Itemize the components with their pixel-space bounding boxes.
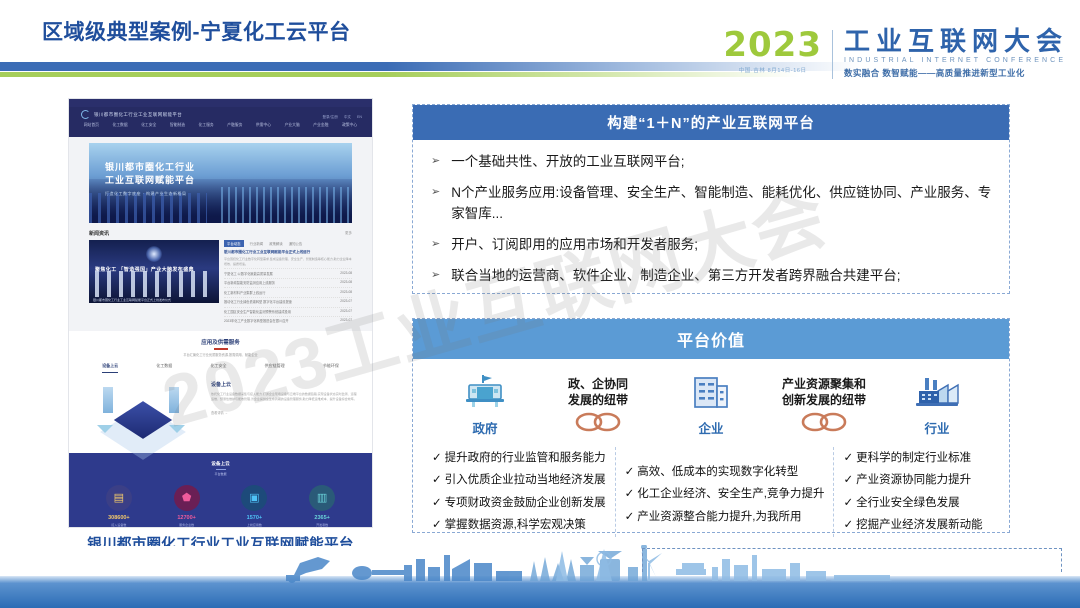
stats-rule	[216, 469, 226, 470]
hero-line1: 银川都市圈化工行业	[105, 161, 195, 174]
check-icon: ✓	[843, 497, 853, 509]
data-icon: ▥	[309, 485, 335, 511]
news-lead-body: 平台围绕化工行业数字化转型需求,集成设备管理、安全生产、智能制造等核心能力,助力…	[224, 257, 352, 266]
stat-item: ⬟ 12700+ 服务企业数	[174, 485, 200, 527]
news-more-link[interactable]: 更多	[345, 231, 352, 236]
news-item-title: 2023年化工产业数字化转型推进会在银川召开	[224, 318, 288, 323]
check-icon: ✓	[625, 488, 635, 500]
value-node-government: 政府	[439, 373, 531, 437]
stat-item: ▣ 1570+ 上线应用数	[241, 485, 267, 527]
stat-value: 308600+	[106, 515, 132, 521]
news-item[interactable]: 2023年化工产业数字化转型推进会在银川召开 2023-07	[224, 316, 352, 323]
mockup-brand: 银川都市圈化工行业工业互联网赋能平台	[94, 112, 182, 118]
benefit-text: 全行业安全绿色发展	[856, 497, 960, 509]
news-item-date: 2023-07	[340, 299, 352, 304]
panel-top-bullets: ➢ 一个基础共性、开放的工业互联网平台; ➢ N个产业服务应用:设备管理、安全生…	[413, 140, 1009, 297]
stat-value: 1570+	[241, 515, 267, 521]
benefit-item: ✓产业资源协同能力提升	[843, 469, 990, 491]
news-item-title: 平台新增智能安防监测应用上线服务	[224, 280, 275, 285]
bullet-text: N个产业服务应用:设备管理、安全生产、智能制造、能耗优化、供应链协同、产业服务、…	[451, 183, 993, 225]
feature-text: 设备上云 依托化工行业设备数据采集与接入能力,打通企业现场设备与云端平台的数据链…	[211, 381, 358, 443]
mockup-news-block: 聚焦化工 「智造强国」产业大脑发布盛典 银川都市圈化工行业工业互联网赋能平台正式…	[89, 240, 352, 323]
benefit-item: ✓全行业安全绿色发展	[843, 492, 990, 514]
hero-line2: 工业互联网赋能平台	[105, 174, 195, 187]
logo-year-block: 2023 中国·吉林 8月14日-16日	[723, 28, 832, 74]
benefit-item: ✓更科学的制定行业标准	[843, 447, 990, 469]
check-icon: ✓	[625, 511, 635, 523]
arrow-bullet-icon: ➢	[431, 185, 440, 198]
benefit-item: ✓引入优质企业拉动当地经济发展	[432, 469, 606, 491]
value-column-government: ✓提升政府的行业监管和服务能力 ✓引入优质企业拉动当地经济发展 ✓专项财政资金鼓…	[423, 447, 615, 537]
arrow-bullet-icon: ➢	[431, 237, 440, 250]
news-photo-caption: 银川都市圈化工行业工业互联网赋能平台正式上线发布仪式	[93, 298, 171, 302]
check-icon: ✓	[432, 474, 442, 486]
stat-item: ▤ 308600+ 接入设备数	[106, 485, 132, 527]
mockup-menu-item[interactable]: 化工安全	[141, 123, 156, 128]
mockup-menu-item[interactable]: 产业大脑	[285, 123, 300, 128]
benefit-text: 挖掘产业经济发展新动能	[856, 519, 983, 531]
check-icon: ✓	[843, 452, 853, 464]
service-tab[interactable]: 化工数据	[156, 363, 172, 373]
slide-root: 区域级典型案例-宁夏化工云平台 2023 中国·吉林 8月14日-16日 工业互…	[0, 0, 1080, 608]
stats-title: 设备上云	[69, 461, 372, 467]
government-icon	[463, 373, 507, 411]
benefit-text: 产业资源整合能力提升,为我所用	[637, 511, 801, 523]
footer-dashed-frame	[642, 548, 1062, 572]
page-title: 区域级典型案例-宁夏化工云平台	[42, 16, 351, 46]
monitor-icon: ▣	[241, 485, 267, 511]
benefit-text: 掌握数据资源,科学宏观决策	[445, 519, 586, 531]
hero-line3: 打造化工数字底座 · 构建产业生态新格局	[105, 191, 195, 197]
service-band-title: 应用及供需服务	[69, 338, 372, 346]
mockup-menu-item[interactable]: 政策中心	[342, 123, 357, 128]
value-benefit-lists: ✓提升政府的行业监管和服务能力 ✓引入优质企业拉动当地经济发展 ✓专项财政资金鼓…	[413, 437, 1009, 537]
logo-year-sub: 中国·吉林 8月14日-16日	[723, 66, 822, 74]
platform-screenshot-mockup: 银川都市圈化工行业工业互联网赋能平台 登录/注册 中文 EN 网站首页 化工数据…	[68, 98, 373, 528]
benefit-text: 专项财政资金鼓励企业创新发展	[445, 497, 606, 509]
link-text-line2: 发展的纽带	[539, 392, 657, 408]
news-tab[interactable]: 平台动态	[224, 240, 244, 247]
service-tab[interactable]: 设备上云	[102, 363, 118, 373]
mockup-menu-item[interactable]: 化工数据	[112, 123, 127, 128]
news-lead-title[interactable]: 银川都市圈化工行业工业互联网赋能平台正式上线运行	[224, 250, 352, 255]
mockup-menu-item[interactable]: 产融服务	[227, 123, 242, 128]
news-tabs[interactable]: 平台动态 行业新闻 政策解读 通知公告	[224, 240, 352, 247]
enterprise-icon	[689, 373, 733, 411]
mockup-service-band: 应用及供需服务 平台汇聚化工行业优质服务资源,按需调用、赋能企业 设备上云 化工…	[69, 331, 372, 373]
stat-label: 上线应用数	[241, 523, 267, 527]
bullet-item: ➢ 联合当地的运营商、软件企业、制造企业、第三方开发者跨界融合共建平台;	[431, 266, 993, 287]
server-icon: ▤	[106, 485, 132, 511]
feature-illustration	[83, 381, 203, 443]
service-tab[interactable]: 化工安全	[210, 363, 226, 373]
check-icon: ✓	[625, 466, 635, 478]
benefit-item: ✓产业资源整合能力提升,为我所用	[625, 506, 825, 528]
mockup-stats-band: 设备上云 平台数据 ▤ 308600+ 接入设备数 ⬟ 12700+ 服务企业数…	[69, 453, 372, 528]
logo-title-cn: 工业互联网大会	[844, 28, 1068, 55]
panel-platform-architecture: 构建“1＋N”的产业互联网平台 ➢ 一个基础共性、开放的工业互联网平台; ➢ N…	[412, 104, 1010, 294]
news-item-date: 2023-08	[340, 290, 352, 295]
value-node-label: 政府	[439, 418, 531, 437]
news-list: 平台动态 行业新闻 政策解读 通知公告 银川都市圈化工行业工业互联网赋能平台正式…	[224, 240, 352, 323]
news-item[interactable]: 宁夏化工:以数字化赋能高质量发展 2023-08	[224, 268, 352, 275]
header-divider-green	[0, 72, 800, 77]
news-item-title: 化工新材料产业集群上线运行	[224, 290, 265, 295]
benefit-item: ✓提升政府的行业监管和服务能力	[432, 447, 606, 469]
feature-more-link[interactable]: 查看详情 →	[211, 410, 358, 415]
mockup-nav: 银川都市圈化工行业工业互联网赋能平台 登录/注册 中文 EN 网站首页 化工数据…	[69, 107, 372, 137]
news-item-title: 推动化工行业绿色低碳转型 数字化平台建设提速	[224, 299, 292, 304]
stat-value: 12700+	[174, 515, 200, 521]
mockup-nav-en[interactable]: EN	[357, 115, 362, 120]
news-item-date: 2023-08	[340, 271, 352, 276]
mockup-nav-login[interactable]: 登录/注册	[322, 115, 337, 120]
check-icon: ✓	[432, 452, 442, 464]
check-icon: ✓	[843, 519, 853, 531]
mockup-topbar	[69, 99, 372, 107]
panel-top-title: 构建“1＋N”的产业互联网平台	[413, 105, 1009, 140]
news-section-title: 新闻资讯	[89, 230, 109, 237]
feature-title: 设备上云	[211, 381, 358, 388]
benefit-text: 产业资源协同能力提升	[856, 474, 971, 486]
benefit-text: 化工企业经济、安全生产,竞争力提升	[637, 488, 824, 500]
benefit-item: ✓化工企业经济、安全生产,竞争力提升	[625, 483, 825, 505]
service-band-tabs[interactable]: 设备上云 化工数据 化工安全 供应链管理 节能环保	[69, 363, 372, 373]
service-band-subtitle: 平台汇聚化工行业优质服务资源,按需调用、赋能企业	[69, 352, 372, 357]
logo-year: 2023	[723, 28, 822, 62]
news-item[interactable]: 化工新材料产业集群上线运行 2023-08	[224, 287, 352, 294]
service-tab[interactable]: 节能环保	[323, 363, 339, 373]
stats-subtitle: 平台数据	[69, 472, 372, 476]
photo-spotlight	[146, 246, 162, 262]
benefit-text: 引入优质企业拉动当地经济发展	[445, 474, 606, 486]
logo-title-en: INDUSTRIAL INTERNET CONFERENCE	[844, 57, 1068, 64]
benefit-item: ✓挖掘产业经济发展新动能	[843, 514, 990, 536]
benefit-text: 提升政府的行业监管和服务能力	[445, 452, 606, 464]
benefit-text: 高效、低成本的实现数字化转型	[637, 466, 798, 478]
bullet-text: 联合当地的运营商、软件企业、制造企业、第三方开发者跨界融合共建平台;	[451, 266, 900, 287]
photo-people	[95, 271, 213, 297]
news-item[interactable]: 化工园区安全生产智能化监测预警系统建成投用 2023-07	[224, 307, 352, 314]
news-item-title: 化工园区安全生产智能化监测预警系统建成投用	[224, 309, 291, 314]
mockup-menu-item[interactable]: 智能制造	[170, 123, 185, 128]
benefit-item: ✓高效、低成本的实现数字化转型	[625, 461, 825, 483]
value-node-enterprise: 企业	[665, 373, 757, 437]
bullet-item: ➢ N个产业服务应用:设备管理、安全生产、智能制造、能耗优化、供应链协同、产业服…	[431, 183, 993, 225]
news-item-date: 2023-08	[340, 280, 352, 285]
bullet-item: ➢ 开户、订阅即用的应用市场和开发者服务;	[431, 235, 993, 256]
value-column-industry: ✓更科学的制定行业标准 ✓产业资源协同能力提升 ✓全行业安全绿色发展 ✓挖掘产业…	[833, 447, 999, 537]
bullet-text: 一个基础共性、开放的工业互联网平台;	[451, 152, 684, 173]
chain-link-icon	[539, 412, 657, 437]
news-item[interactable]: 平台新增智能安防监测应用上线服务 2023-08	[224, 278, 352, 285]
news-item[interactable]: 推动化工行业绿色低碳转型 数字化平台建设提速 2023-07	[224, 297, 352, 304]
stat-label: 开发者数	[309, 523, 335, 527]
mockup-nav-right[interactable]: 登录/注册 中文 EN	[322, 115, 362, 120]
news-tab[interactable]: 政策解读	[269, 241, 283, 246]
iso-pillar	[103, 387, 113, 413]
mockup-nav-cn[interactable]: 中文	[344, 115, 351, 120]
chain-link-icon	[765, 412, 883, 437]
service-tab[interactable]: 供应链管理	[265, 363, 285, 373]
panel-platform-value: 平台价值 政府 政、企协同 发展的纽带	[412, 318, 1010, 533]
news-item-title: 宁夏化工:以数字化赋能高质量发展	[224, 271, 273, 276]
mockup-news-header: 新闻资讯 更多	[89, 230, 352, 237]
value-node-row: 政府 政、企协同 发展的纽带	[413, 359, 1009, 437]
mockup-menu[interactable]: 网站首页 化工数据 化工安全 智能制造 化工服务 产融服务 供需中心 产业大脑 …	[69, 119, 372, 128]
news-photo: 聚焦化工 「智造强国」产业大脑发布盛典 银川都市圈化工行业工业互联网赋能平台正式…	[89, 240, 219, 303]
value-node-industry: 行业	[891, 373, 983, 437]
value-node-label: 行业	[891, 418, 983, 437]
value-node-label: 企业	[665, 418, 757, 437]
mockup-logo-icon	[81, 110, 90, 119]
benefit-item: ✓专项财政资金鼓励企业创新发展	[432, 492, 606, 514]
mockup-feature-block: 设备上云 依托化工行业设备数据采集与接入能力,打通企业现场设备与云端平台的数据链…	[69, 373, 372, 453]
check-icon: ✓	[432, 519, 442, 531]
iso-pillar	[169, 387, 179, 413]
mockup-menu-item[interactable]: 供需中心	[256, 123, 271, 128]
check-icon: ✓	[843, 474, 853, 486]
link-text-line1: 产业资源聚集和	[765, 376, 883, 392]
footer-skyline-band	[0, 546, 1080, 608]
stat-value: 2365+	[309, 515, 335, 521]
mockup-menu-item[interactable]: 产业金融	[313, 123, 328, 128]
benefit-text: 更科学的制定行业标准	[856, 452, 971, 464]
benefit-item: ✓掌握数据资源,科学宏观决策	[432, 514, 606, 536]
value-column-enterprise: ✓高效、低成本的实现数字化转型 ✓化工企业经济、安全生产,竞争力提升 ✓产业资源…	[615, 447, 834, 537]
news-tab[interactable]: 通知公告	[289, 241, 303, 246]
panel-bottom-title: 平台价值	[413, 319, 1009, 359]
value-link-ent-ind: 产业资源聚集和 创新发展的纽带	[765, 376, 883, 437]
news-item-date: 2023-07	[340, 318, 352, 323]
value-link-gov-ent: 政、企协同 发展的纽带	[539, 376, 657, 437]
logo-slogan: 数实融合 数智赋能——高质量推进新型工业化	[844, 67, 1068, 79]
service-band-rule	[214, 348, 228, 350]
stats-row: ▤ 308600+ 接入设备数 ⬟ 12700+ 服务企业数 ▣ 1570+ 上…	[69, 485, 372, 527]
stat-label: 服务企业数	[174, 523, 200, 527]
stat-item: ▥ 2365+ 开发者数	[309, 485, 335, 527]
mockup-hero-banner: 银川都市圈化工行业 工业互联网赋能平台 打造化工数字底座 · 构建产业生态新格局	[89, 143, 352, 223]
news-item-date: 2023-07	[340, 309, 352, 314]
mockup-menu-item[interactable]: 网站首页	[84, 123, 99, 128]
bullet-item: ➢ 一个基础共性、开放的工业互联网平台;	[431, 152, 993, 173]
check-icon: ✓	[432, 497, 442, 509]
bullet-text: 开户、订阅即用的应用市场和开发者服务;	[451, 235, 698, 256]
link-text-line2: 创新发展的纽带	[765, 392, 883, 408]
logo-text-block: 工业互联网大会 INDUSTRIAL INTERNET CONFERENCE 数…	[833, 28, 1068, 79]
mockup-menu-item[interactable]: 化工服务	[199, 123, 214, 128]
stat-label: 接入设备数	[106, 523, 132, 527]
feature-body: 依托化工行业设备数据采集与接入能力,打通企业现场设备与云端平台的数据链路,实现设…	[211, 392, 358, 402]
conference-logo: 2023 中国·吉林 8月14日-16日 工业互联网大会 INDUSTRIAL …	[723, 28, 1068, 79]
arrow-bullet-icon: ➢	[431, 154, 440, 167]
factory-icon	[914, 373, 960, 411]
hero-text: 银川都市圈化工行业 工业互联网赋能平台 打造化工数字底座 · 构建产业生态新格局	[105, 161, 195, 197]
arrow-bullet-icon: ➢	[431, 268, 440, 281]
news-tab[interactable]: 行业新闻	[250, 241, 264, 246]
link-text-line1: 政、企协同	[539, 376, 657, 392]
shield-icon: ⬟	[174, 485, 200, 511]
